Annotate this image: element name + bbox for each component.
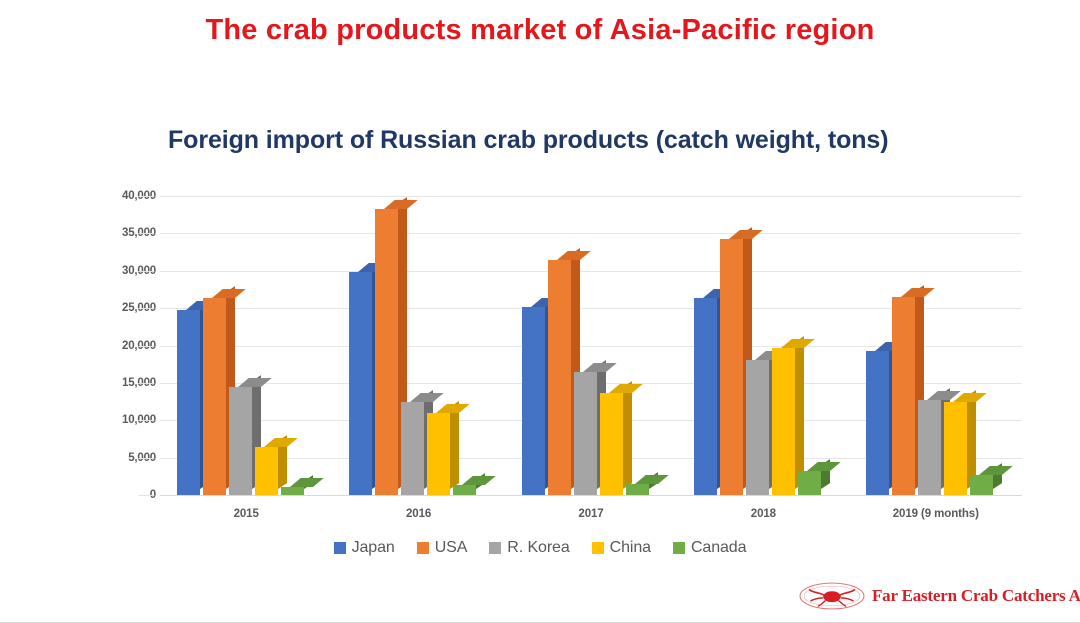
bar-japan-20199[interactable] — [866, 351, 889, 495]
slide-canvas: The crab products market of Asia-Pacific… — [0, 0, 1080, 623]
chart-legend: JapanUSAR. KoreaChinaCanada — [0, 539, 1080, 557]
y-axis-tick-label: 5,000 — [98, 452, 156, 464]
bar-top — [264, 438, 298, 447]
y-axis-tick-label: 25,000 — [98, 302, 156, 314]
bar-face — [548, 260, 571, 495]
bar-r-korea-2015[interactable] — [229, 387, 252, 495]
bar-face — [255, 447, 278, 495]
x-axis-category-label: 2018 — [751, 508, 776, 520]
bar-japan-2017[interactable] — [522, 307, 545, 495]
bar-group — [177, 196, 316, 495]
bar-top — [901, 288, 935, 297]
bar-usa-2015[interactable] — [203, 298, 226, 495]
bar-face — [866, 351, 889, 495]
bar-top — [609, 384, 643, 393]
x-axis-category-label: 2017 — [578, 508, 603, 520]
bar-top — [462, 476, 496, 485]
legend-label: USA — [435, 539, 468, 557]
bar-top — [979, 466, 1013, 475]
bar-face — [892, 297, 915, 495]
bar-top — [557, 251, 591, 260]
bar-japan-2015[interactable] — [177, 310, 200, 495]
bar-canada-2015[interactable] — [281, 487, 304, 495]
bar-canada-2018[interactable] — [798, 471, 821, 495]
legend-label: R. Korea — [507, 539, 569, 557]
legend-swatch-icon — [592, 542, 604, 554]
bar-top — [807, 462, 841, 471]
bar-side — [450, 401, 459, 489]
legend-swatch-icon — [417, 542, 429, 554]
legend-label: Japan — [352, 539, 395, 557]
bar-side — [795, 336, 804, 489]
legend-label: Canada — [691, 539, 746, 557]
bar-face — [694, 298, 717, 495]
bar-group — [866, 196, 1005, 495]
legend-item-canada[interactable]: Canada — [673, 539, 746, 557]
legend-item-r-korea[interactable]: R. Korea — [489, 539, 569, 557]
bar-r-korea-2018[interactable] — [746, 360, 769, 495]
bar-face — [177, 310, 200, 495]
x-axis-category-label: 2015 — [234, 508, 259, 520]
bar-top — [384, 200, 418, 209]
bar-face — [203, 298, 226, 495]
bar-usa-2016[interactable] — [375, 209, 398, 495]
bar-japan-2018[interactable] — [694, 298, 717, 495]
bar-face — [746, 360, 769, 495]
bar-china-20199[interactable] — [944, 402, 967, 495]
bar-face — [349, 272, 372, 495]
x-axis-category-label: 2019 (9 months) — [893, 508, 979, 520]
footer-branding: Far Eastern Crab Catchers A — [798, 580, 1080, 612]
bar-top — [212, 289, 246, 298]
bar-face — [229, 387, 252, 495]
legend-swatch-icon — [673, 542, 685, 554]
bar-china-2017[interactable] — [600, 393, 623, 495]
bar-top — [781, 339, 815, 348]
bar-canada-2016[interactable] — [453, 485, 476, 495]
bar-side — [623, 381, 632, 489]
bar-face — [798, 471, 821, 495]
bar-face — [720, 239, 743, 495]
y-axis-tick-label: 40,000 — [98, 190, 156, 202]
gridline — [160, 495, 1022, 496]
bar-china-2016[interactable] — [427, 413, 450, 495]
bar-top — [410, 393, 444, 402]
bar-r-korea-2017[interactable] — [574, 372, 597, 495]
bar-face — [401, 402, 424, 495]
bar-top — [436, 404, 470, 413]
x-axis-category-label: 2016 — [406, 508, 431, 520]
legend-swatch-icon — [489, 542, 501, 554]
bar-top — [729, 230, 763, 239]
bar-usa-2017[interactable] — [548, 260, 571, 495]
bar-face — [600, 393, 623, 495]
bar-face — [944, 402, 967, 495]
bar-r-korea-2016[interactable] — [401, 402, 424, 495]
bar-usa-2018[interactable] — [720, 239, 743, 495]
bar-group — [522, 196, 661, 495]
legend-item-china[interactable]: China — [592, 539, 651, 557]
organization-name: Far Eastern Crab Catchers A — [872, 586, 1080, 606]
bar-top — [635, 475, 669, 484]
chart-plot: 05,00010,00015,00020,00025,00030,00035,0… — [0, 0, 1080, 623]
bar-canada-2017[interactable] — [626, 484, 649, 495]
bar-china-2015[interactable] — [255, 447, 278, 495]
bar-face — [522, 307, 545, 495]
bar-japan-2016[interactable] — [349, 272, 372, 495]
bar-top — [290, 478, 324, 487]
y-axis-tick-label: 10,000 — [98, 414, 156, 426]
bar-usa-20199[interactable] — [892, 297, 915, 495]
bar-group — [694, 196, 833, 495]
y-axis-tick-label: 30,000 — [98, 265, 156, 277]
bar-face — [626, 484, 649, 495]
bar-top — [953, 393, 987, 402]
y-axis-tick-label: 0 — [98, 489, 156, 501]
legend-item-japan[interactable]: Japan — [334, 539, 395, 557]
legend-item-usa[interactable]: USA — [417, 539, 468, 557]
bar-face — [375, 209, 398, 495]
bar-face — [772, 348, 795, 495]
bar-face — [918, 400, 941, 495]
y-axis-tick-label: 35,000 — [98, 227, 156, 239]
y-axis-tick-label: 20,000 — [98, 340, 156, 352]
bar-r-korea-20199[interactable] — [918, 400, 941, 495]
bar-face — [574, 372, 597, 495]
bar-face — [453, 485, 476, 495]
bar-face — [970, 475, 993, 495]
bar-face — [427, 413, 450, 495]
y-axis-tick-label: 15,000 — [98, 377, 156, 389]
crab-logo-icon — [798, 580, 866, 612]
bar-china-2018[interactable] — [772, 348, 795, 495]
legend-label: China — [610, 539, 651, 557]
bar-face — [281, 487, 304, 495]
legend-swatch-icon — [334, 542, 346, 554]
bar-top — [238, 378, 272, 387]
plot-area — [160, 196, 1022, 495]
bar-canada-20199[interactable] — [970, 475, 993, 495]
bar-top — [583, 363, 617, 372]
bar-group — [349, 196, 488, 495]
